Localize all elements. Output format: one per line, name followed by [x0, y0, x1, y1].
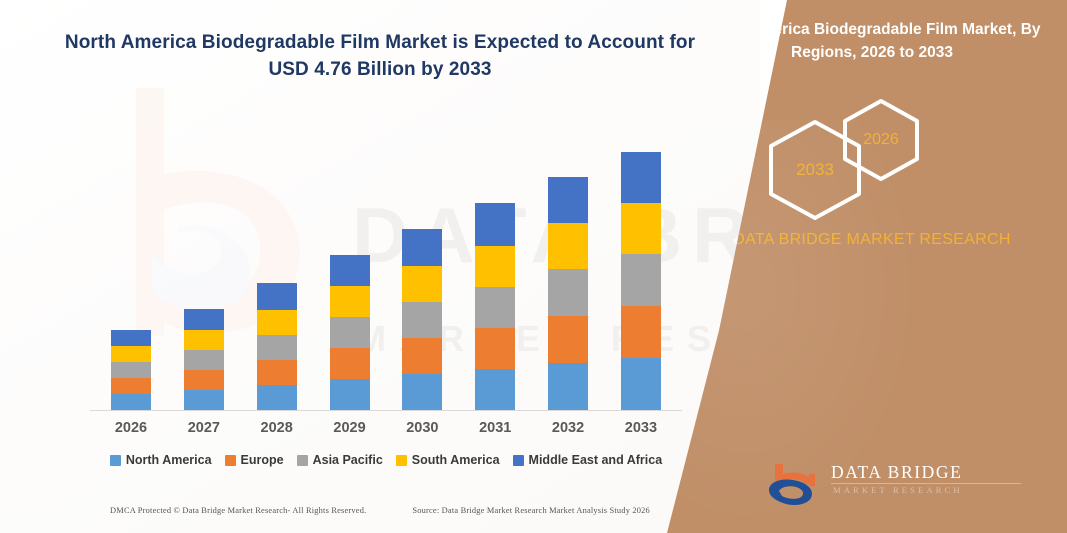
bar-segment[interactable] — [402, 374, 442, 410]
footer-source: Source: Data Bridge Market Research Mark… — [412, 506, 650, 515]
x-axis-label: 2032 — [537, 420, 599, 436]
x-axis-label: 2029 — [319, 420, 381, 436]
bar-column — [100, 132, 162, 410]
bar-segment[interactable] — [111, 362, 151, 378]
legend-item[interactable]: Europe — [225, 453, 284, 467]
x-axis-label: 2027 — [173, 420, 235, 436]
bar-segment[interactable] — [111, 394, 151, 410]
bar-segment[interactable] — [184, 309, 224, 330]
x-axis-label: 2031 — [464, 420, 526, 436]
data-bridge-logo: DATA BRIDGE MARKET RESEARCH — [767, 458, 1042, 510]
bar-column — [319, 132, 381, 410]
logo-tagline: MARKET RESEARCH — [833, 485, 963, 495]
legend-label: Europe — [241, 453, 284, 467]
bar-column — [537, 132, 599, 410]
bar-segment[interactable] — [402, 338, 442, 374]
bar-segment[interactable] — [330, 348, 370, 379]
stacked-bar[interactable] — [621, 152, 661, 410]
bar-segment[interactable] — [111, 330, 151, 346]
bar-segment[interactable] — [475, 246, 515, 287]
bar-column — [246, 132, 308, 410]
hexagon-2026: 2026 — [842, 98, 920, 182]
bar-segment[interactable] — [621, 358, 661, 410]
stacked-bar[interactable] — [475, 203, 515, 410]
logo-divider — [831, 483, 1021, 484]
legend-swatch — [110, 455, 121, 466]
bar-segment[interactable] — [475, 328, 515, 369]
bar-segment[interactable] — [548, 223, 588, 269]
bar-segment[interactable] — [330, 286, 370, 317]
logo-name: DATA BRIDGE — [831, 462, 962, 483]
legend-label: Middle East and Africa — [529, 453, 663, 467]
data-bridge-logo-icon — [767, 460, 823, 508]
legend-item[interactable]: South America — [396, 453, 500, 467]
footer-copyright: DMCA Protected © Data Bridge Market Rese… — [110, 506, 366, 515]
bar-segment[interactable] — [548, 363, 588, 410]
bar-column — [464, 132, 526, 410]
bar-segment[interactable] — [402, 302, 442, 338]
footer: DMCA Protected © Data Bridge Market Rese… — [0, 506, 760, 515]
chart-panel: DATA BRIDGE MARKET RESEARCH North Americ… — [0, 0, 760, 533]
stacked-bar[interactable] — [184, 309, 224, 410]
bar-segment[interactable] — [257, 310, 297, 335]
legend-label: Asia Pacific — [313, 453, 383, 467]
bar-segment[interactable] — [621, 254, 661, 306]
bar-column — [391, 132, 453, 410]
bar-segment[interactable] — [330, 379, 370, 410]
legend-swatch — [513, 455, 524, 466]
bar-segment[interactable] — [548, 316, 588, 363]
bar-column — [610, 132, 672, 410]
bar-segment[interactable] — [111, 346, 151, 362]
infographic-root: DATA BRIDGE MARKET RESEARCH North Americ… — [0, 0, 1067, 533]
bar-segment[interactable] — [184, 330, 224, 350]
hexagon-2033-label: 2033 — [796, 160, 834, 180]
bar-segment[interactable] — [257, 335, 297, 360]
chart-plot-area — [86, 132, 686, 410]
x-axis-label: 2026 — [100, 420, 162, 436]
bar-segment[interactable] — [621, 203, 661, 254]
bar-segment[interactable] — [621, 306, 661, 358]
bar-segment[interactable] — [475, 287, 515, 328]
bar-segment[interactable] — [184, 390, 224, 410]
bar-segment[interactable] — [548, 177, 588, 223]
bar-column — [173, 132, 235, 410]
bar-segment[interactable] — [257, 360, 297, 385]
stacked-bar[interactable] — [330, 255, 370, 410]
stacked-bar[interactable] — [402, 229, 442, 410]
bar-segment[interactable] — [621, 152, 661, 203]
legend-item[interactable]: North America — [110, 453, 212, 467]
bar-segment[interactable] — [184, 350, 224, 370]
stacked-bar[interactable] — [257, 283, 297, 410]
x-axis-labels: 20262027202820292030203120322033 — [86, 420, 686, 436]
legend-item[interactable]: Middle East and Africa — [513, 453, 663, 467]
legend-swatch — [225, 455, 236, 466]
bar-segment[interactable] — [330, 255, 370, 286]
bar-segment[interactable] — [402, 266, 442, 302]
page-title: North America Biodegradable Film Market … — [60, 30, 700, 84]
bar-segment[interactable] — [402, 229, 442, 266]
brand-name: DATA BRIDGE MARKET RESEARCH — [697, 228, 1047, 253]
legend-swatch — [297, 455, 308, 466]
x-axis-line — [90, 410, 682, 411]
bar-segment[interactable] — [257, 283, 297, 310]
legend-label: North America — [126, 453, 212, 467]
hexagon-2026-label: 2026 — [863, 131, 899, 149]
bar-segment[interactable] — [184, 370, 224, 390]
bar-segment[interactable] — [548, 269, 588, 316]
stacked-bar-chart — [86, 132, 686, 414]
x-axis-label: 2028 — [246, 420, 308, 436]
hexagon-group: 2033 2026 — [757, 98, 987, 218]
bar-segment[interactable] — [475, 369, 515, 410]
bar-segment[interactable] — [330, 317, 370, 348]
bar-segment[interactable] — [111, 378, 151, 394]
legend-swatch — [396, 455, 407, 466]
stacked-bar[interactable] — [111, 330, 151, 410]
x-axis-label: 2030 — [391, 420, 453, 436]
bar-segment[interactable] — [475, 203, 515, 246]
legend-item[interactable]: Asia Pacific — [297, 453, 383, 467]
legend-label: South America — [412, 453, 500, 467]
chart-legend: North AmericaEuropeAsia PacificSouth Ame… — [86, 453, 686, 467]
bar-segment[interactable] — [257, 385, 297, 410]
stacked-bar[interactable] — [548, 177, 588, 410]
x-axis-label: 2033 — [610, 420, 672, 436]
